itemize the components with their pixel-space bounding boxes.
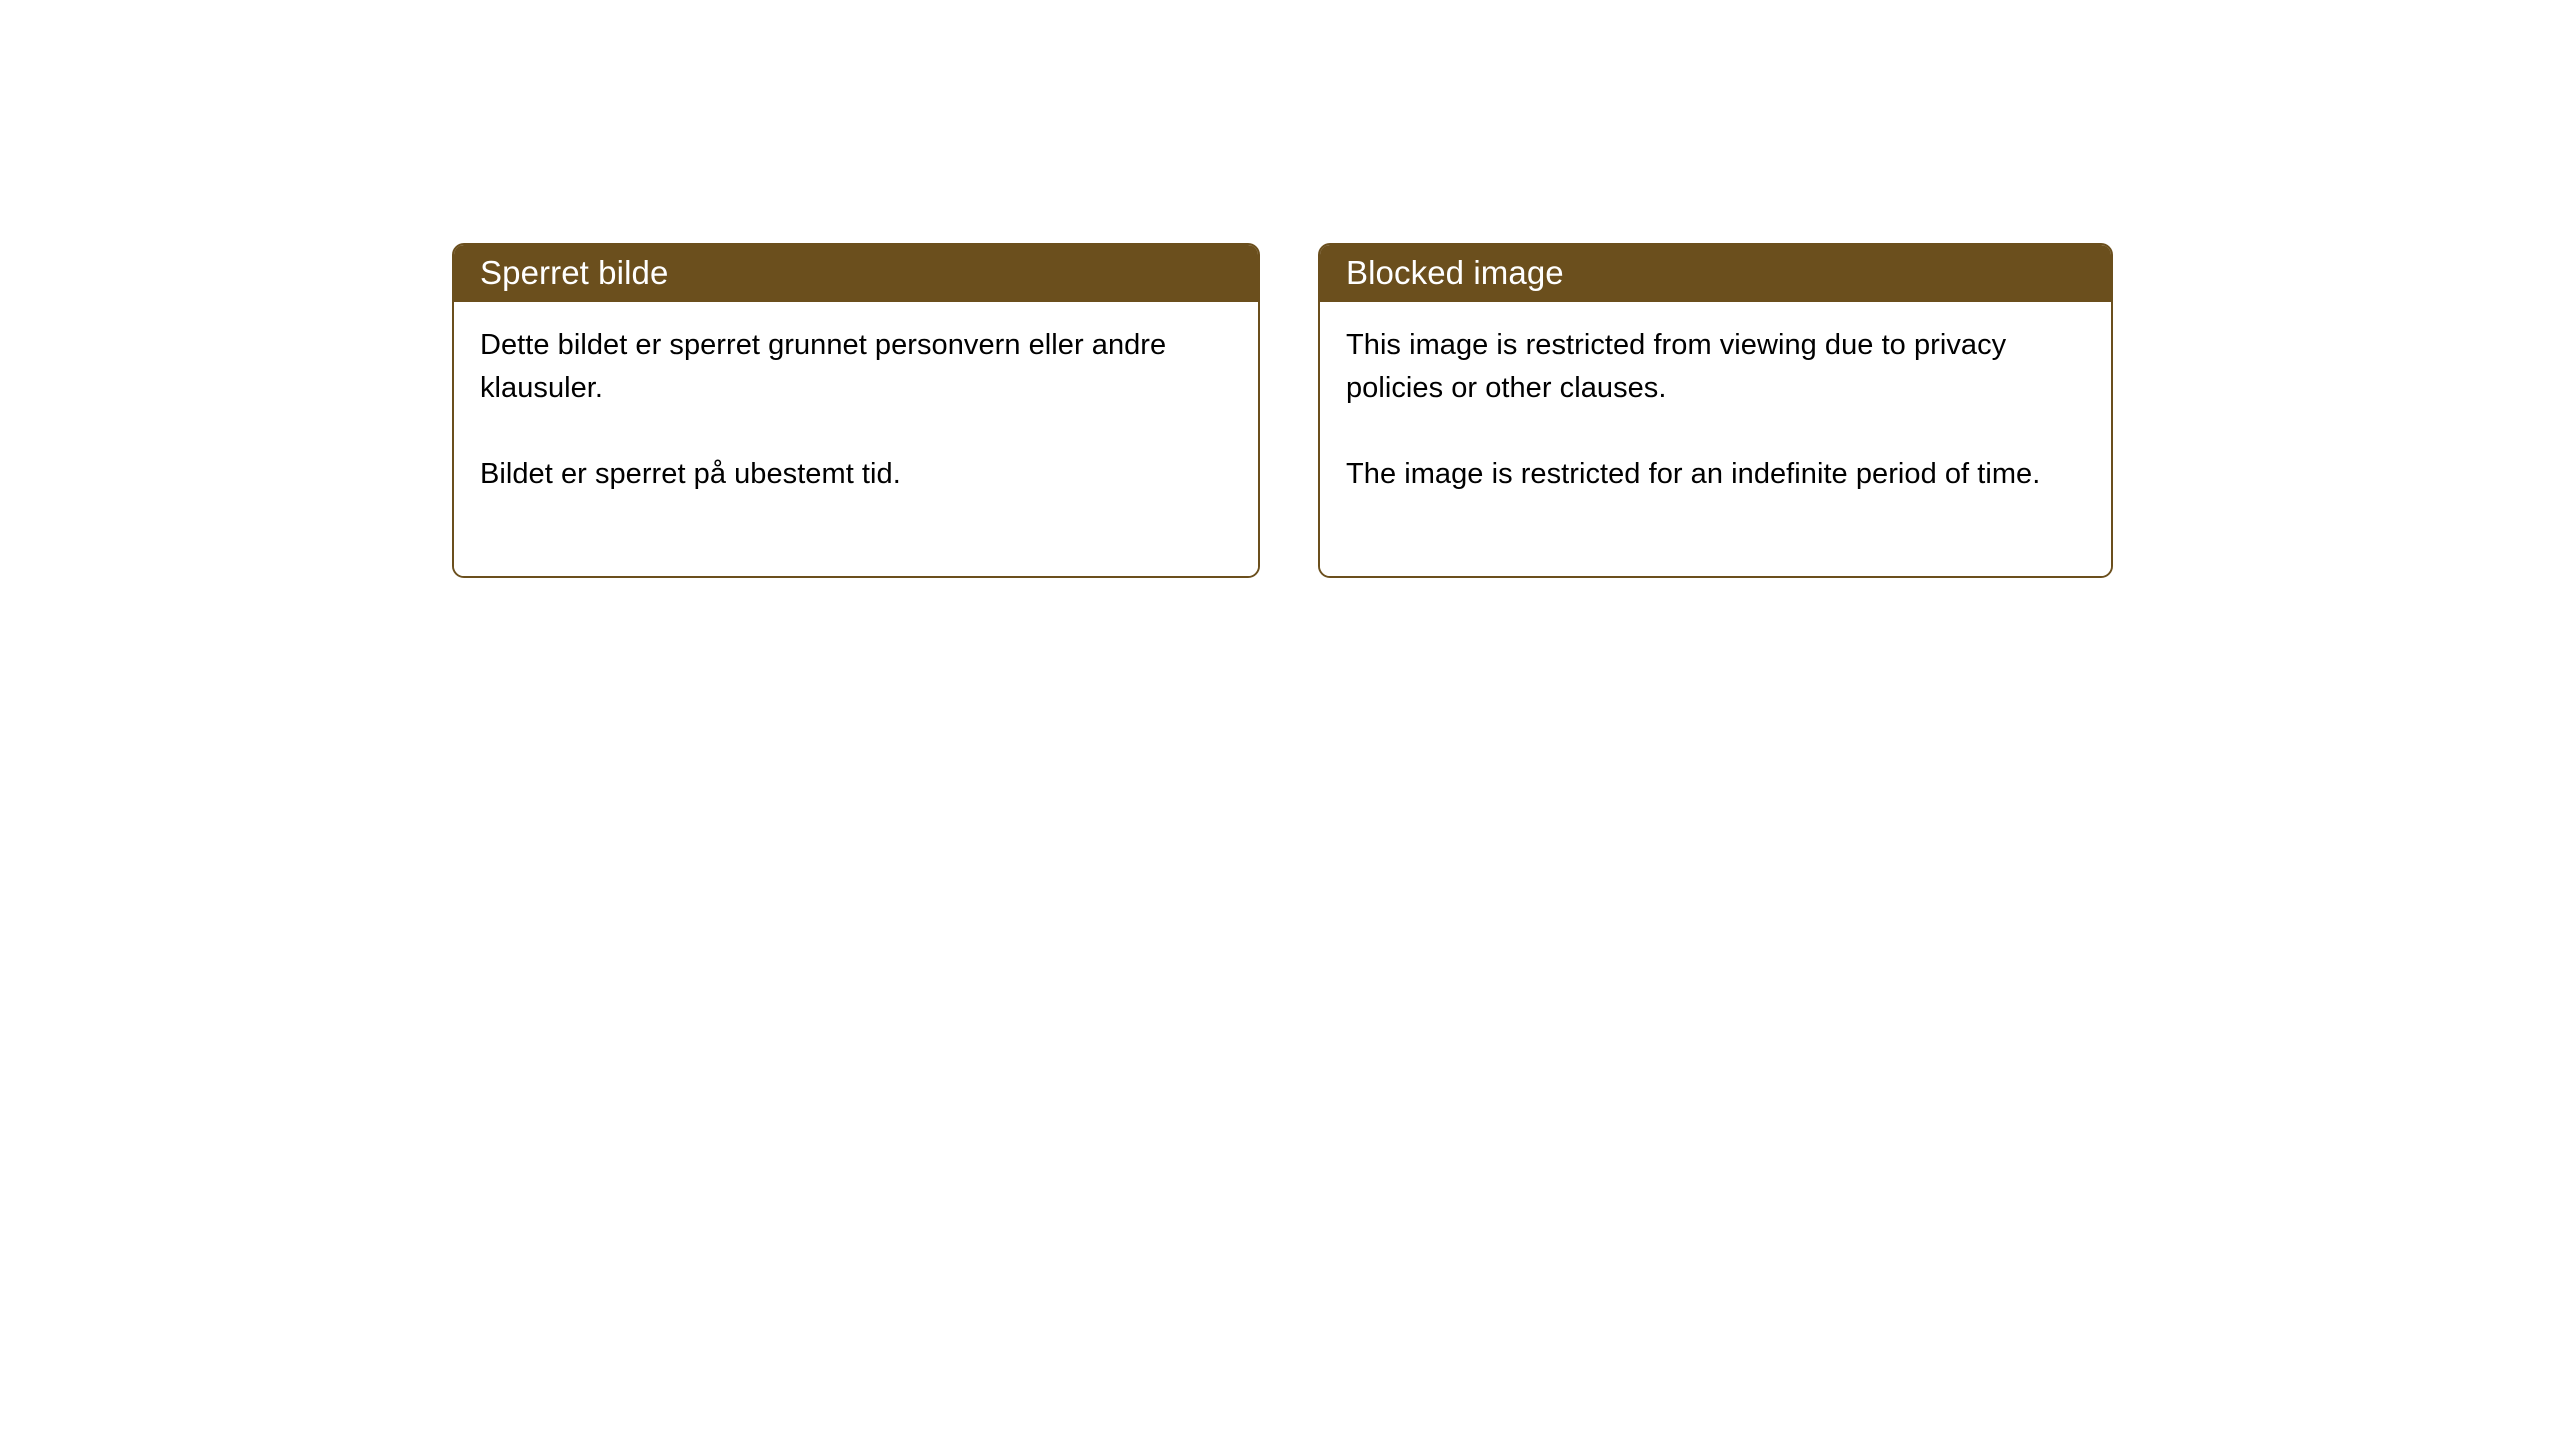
card-paragraph: This image is restricted from viewing du…	[1346, 324, 2085, 410]
card-paragraph: Dette bildet er sperret grunnet personve…	[480, 324, 1232, 410]
card-body-en: This image is restricted from viewing du…	[1320, 302, 2111, 576]
blocked-image-notice-card-en: Blocked image This image is restricted f…	[1318, 243, 2113, 578]
card-body-no: Dette bildet er sperret grunnet personve…	[454, 302, 1258, 576]
card-paragraph: The image is restricted for an indefinit…	[1346, 453, 2085, 496]
card-title-no: Sperret bilde	[480, 256, 668, 289]
card-paragraph: Bildet er sperret på ubestemt tid.	[480, 453, 1232, 496]
card-title-en: Blocked image	[1346, 256, 1564, 289]
notice-card-group: Sperret bilde Dette bildet er sperret gr…	[452, 243, 2113, 578]
page-canvas: Sperret bilde Dette bildet er sperret gr…	[0, 0, 2560, 1440]
card-header-en: Blocked image	[1318, 243, 2113, 302]
card-header-no: Sperret bilde	[452, 243, 1260, 302]
blocked-image-notice-card-no: Sperret bilde Dette bildet er sperret gr…	[452, 243, 1260, 578]
